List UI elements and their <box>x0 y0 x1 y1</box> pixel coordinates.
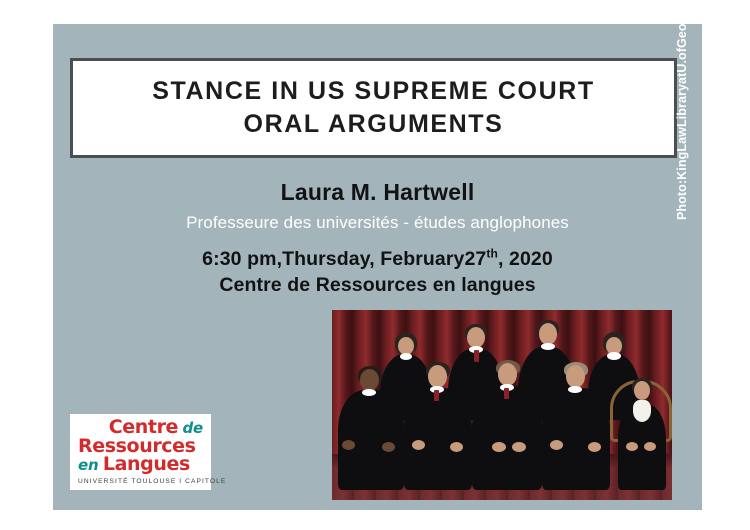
logo-line-3: en Langues <box>78 455 203 473</box>
speaker-name: Laura M. Hartwell <box>53 179 702 207</box>
crl-logo: Centre de Ressources en Langues UNIVERSI… <box>70 414 211 490</box>
title-line-2: ORAL ARGUMENTS <box>152 108 595 141</box>
event-date-ordinal: th <box>486 246 498 260</box>
speaker-details: Laura M. Hartwell Professeure des univer… <box>53 179 702 298</box>
justice-seated-1 <box>338 366 404 490</box>
justice-seated-4 <box>542 362 610 490</box>
logo-subtitle: UNIVERSITÉ TOULOUSE I CAPITOLE <box>78 478 203 485</box>
title-line-1: STANCE IN US SUPREME COURT <box>152 75 595 108</box>
supreme-court-photo <box>332 310 672 500</box>
page-title: STANCE IN US SUPREME COURT ORAL ARGUMENT… <box>152 75 595 142</box>
poster-slide: STANCE IN US SUPREME COURT ORAL ARGUMENT… <box>53 24 702 510</box>
justice-seated-2 <box>404 362 472 490</box>
event-datetime: 6:30 pm,Thursday, February27th, 2020 <box>53 247 702 273</box>
justice-seated-5 <box>614 374 668 490</box>
event-venue: Centre de Ressources en langues <box>53 273 702 299</box>
logo-word-langues: Langues <box>103 453 190 475</box>
title-box: STANCE IN US SUPREME COURT ORAL ARGUMENT… <box>70 58 677 158</box>
photo-image <box>332 310 672 500</box>
event-datetime-prefix: 6:30 pm,Thursday, February27 <box>202 248 486 270</box>
logo-word-en: en <box>78 456 98 474</box>
justice-seated-3 <box>472 360 542 490</box>
photo-credit: Photo:KingLawLibraryatU.ofGeorgia,2015 <box>673 0 691 220</box>
event-date-year: , 2020 <box>498 248 553 270</box>
speaker-role: Professeure des universités - études ang… <box>53 212 702 233</box>
